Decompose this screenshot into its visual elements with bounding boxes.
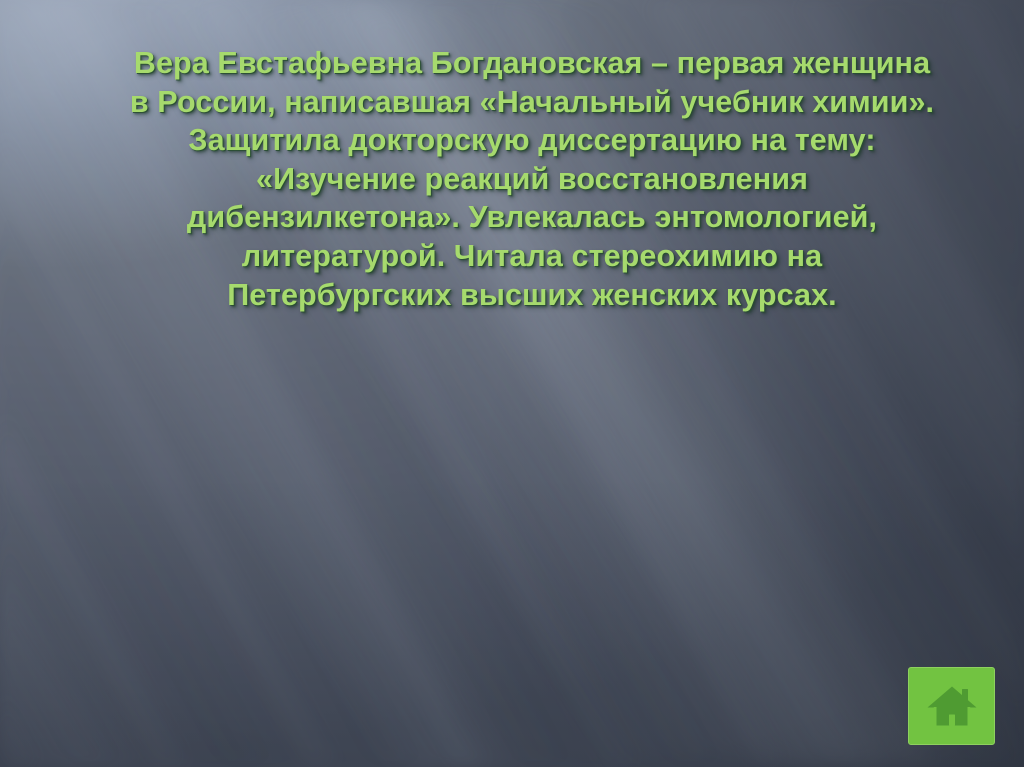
presentation-slide: Вера Евстафьевна Богдановская – первая ж… xyxy=(0,0,1024,767)
slide-body-text: Вера Евстафьевна Богдановская – первая ж… xyxy=(62,44,1002,314)
home-icon xyxy=(926,683,978,729)
home-button[interactable] xyxy=(908,667,995,745)
